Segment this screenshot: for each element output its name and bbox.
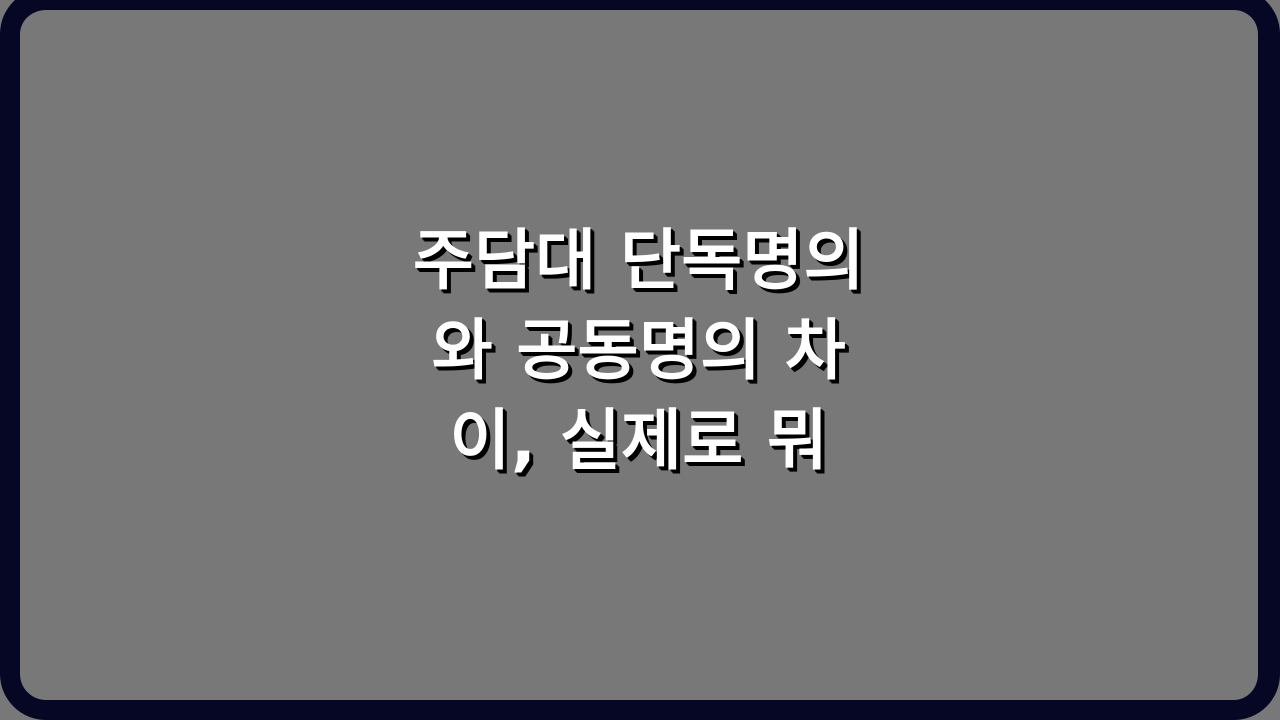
title-line-3: 이, 실제로 뭐 [450, 396, 829, 486]
title-line-1: 주담대 단독명의 [413, 216, 865, 306]
title-block: 주담대 단독명의 와 공동명의 차 이, 실제로 뭐 [20, 10, 1258, 700]
title-line-2: 와 공동명의 차 [432, 306, 846, 396]
card-frame: 주담대 단독명의 와 공동명의 차 이, 실제로 뭐 [0, 0, 1280, 720]
thumbnail-canvas: 주담대 단독명의 와 공동명의 차 이, 실제로 뭐 [0, 0, 1280, 720]
